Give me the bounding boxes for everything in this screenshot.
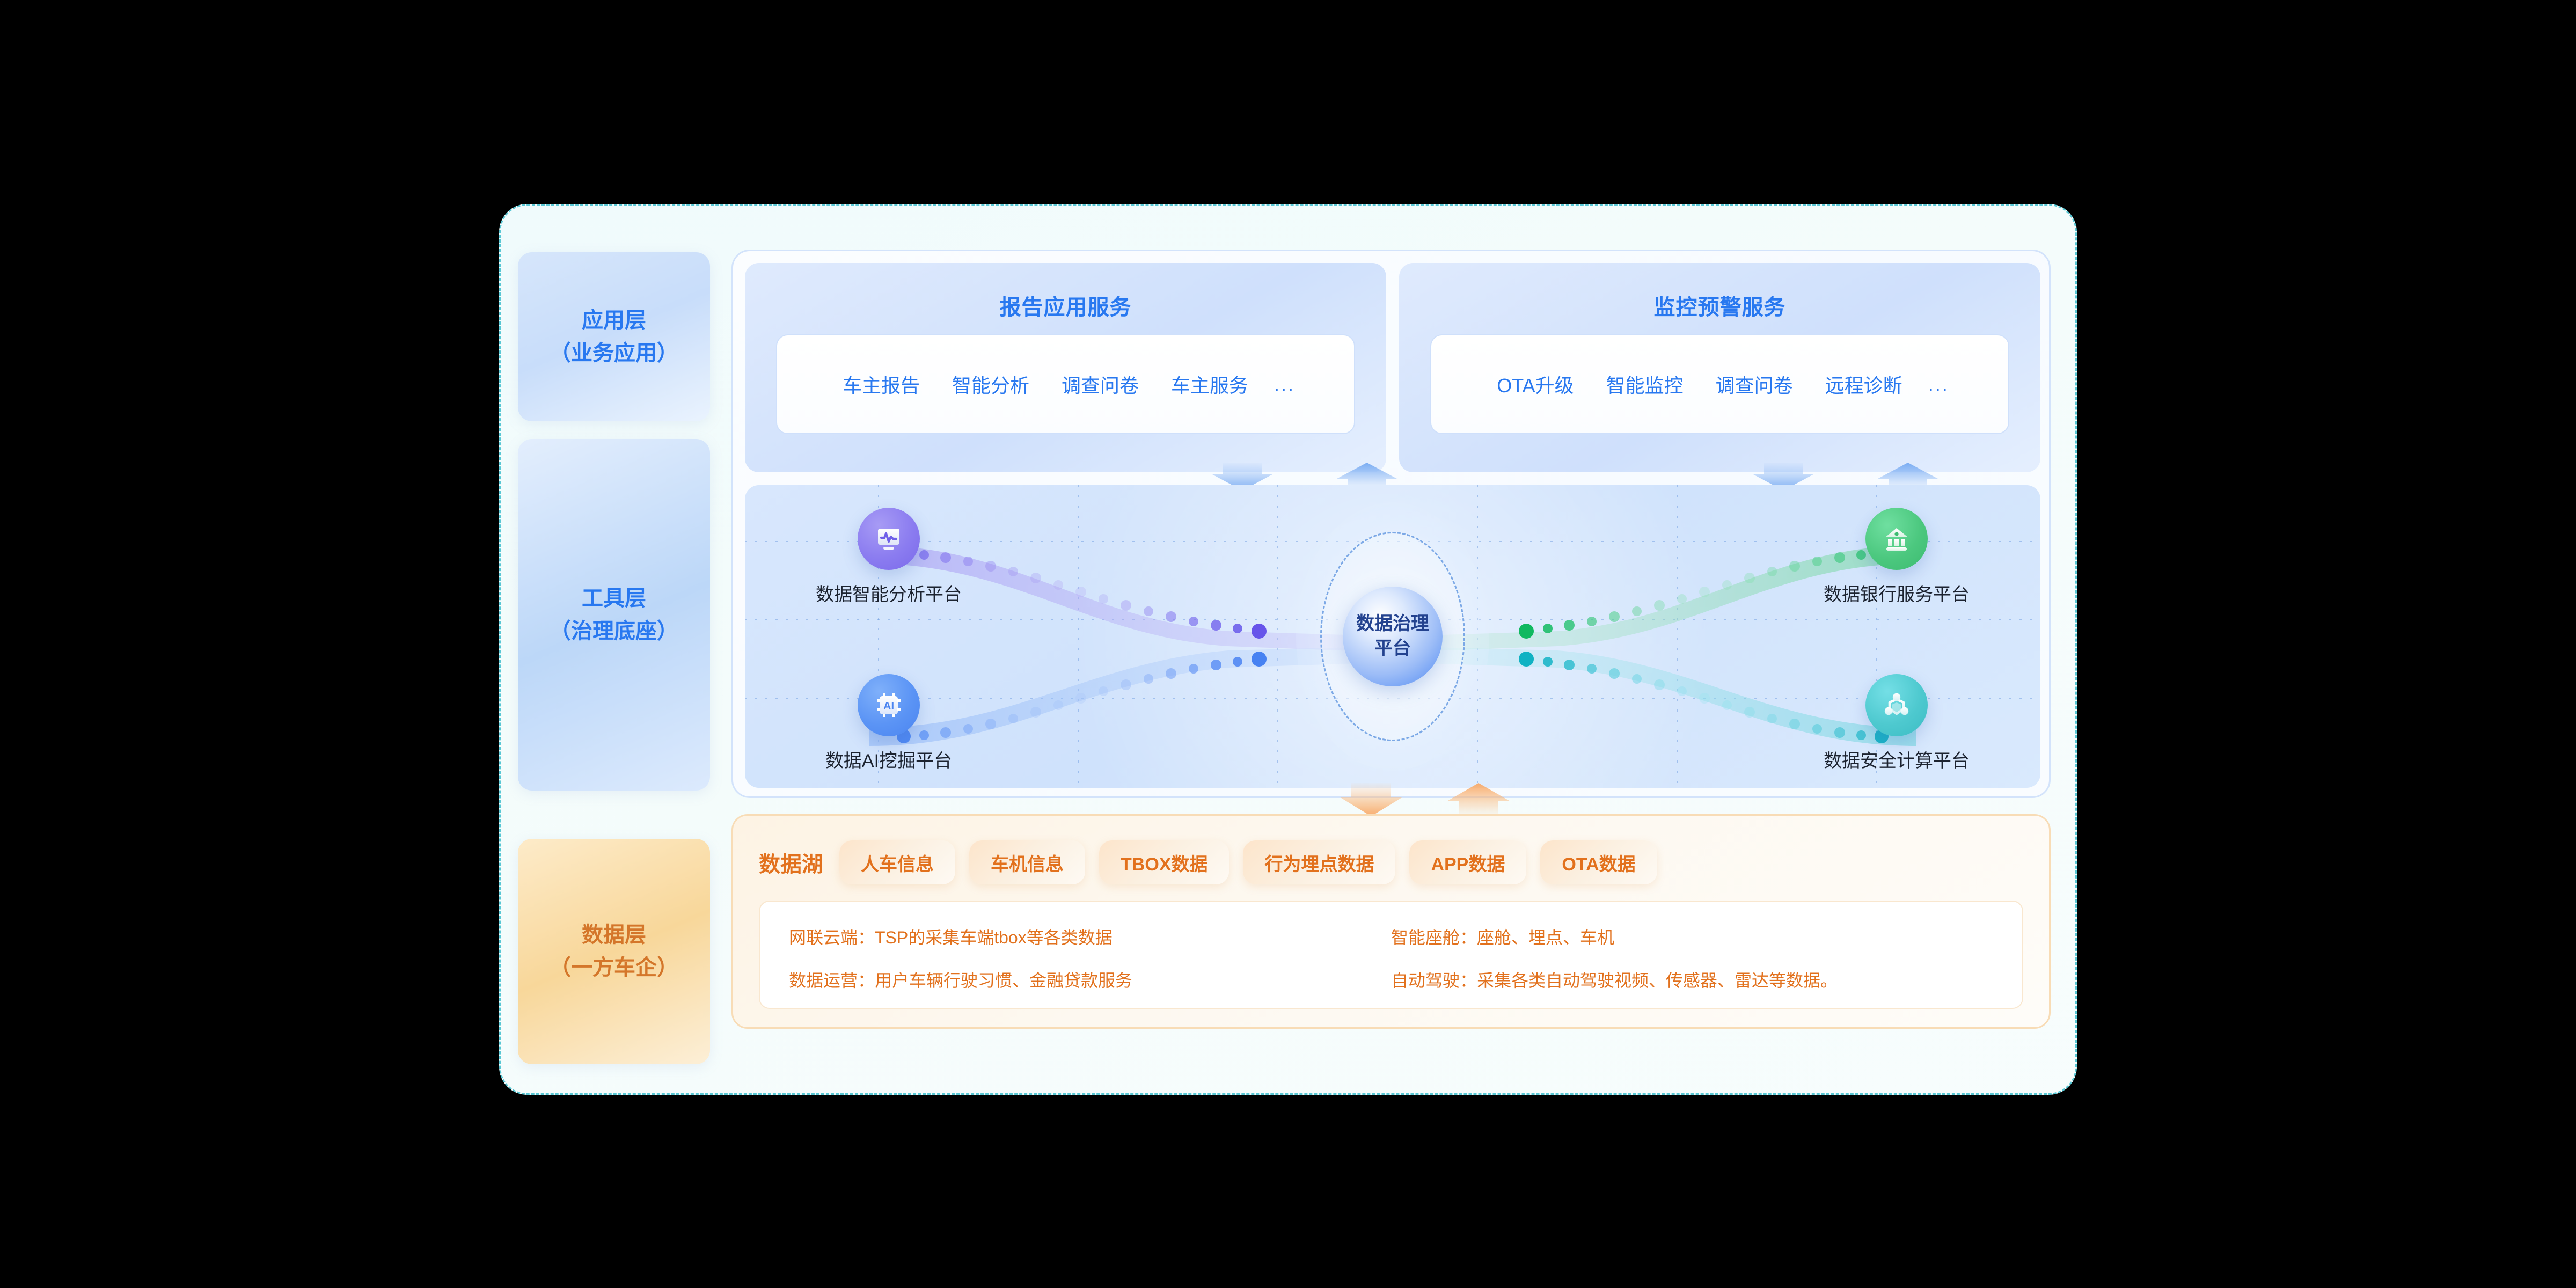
data-lake-title: 数据湖 [759,847,823,878]
tool-data-connector-arrows [731,783,2051,816]
description-column-left: 网联云端：TSP的采集车端tbox等各类数据 数据运营：用户车辆行驶习惯、金融贷… [789,924,1391,985]
data-lake-tag-app[interactable]: APP数据 [1409,840,1526,884]
service-item-owner-service[interactable]: 车主服务 [1155,370,1264,398]
description-smart-cockpit: 智能座舱：座舱、埋点、车机 [1391,924,1993,949]
layer-sub-data: （一方车企） [550,952,678,984]
layer-chip-application[interactable]: 应用层 （业务应用） [518,252,710,421]
application-layer-row: 报告应用服务 车主报告 智能分析 调查问卷 车主服务 ... 监控预警服务 OT… [745,263,2040,472]
description-connected-cloud: 网联云端：TSP的采集车端tbox等各类数据 [789,924,1391,949]
service-card-monitor-title: 监控预警服务 [1399,290,2040,321]
tool-layer-canvas: 数据治理 平台 数据智能分析平台 [745,485,2040,788]
service-item-questionnaire-2[interactable]: 调查问卷 [1700,370,1809,398]
layer-chip-tool[interactable]: 工具层 （治理底座） [518,439,710,791]
service-item-smart-analysis[interactable]: 智能分析 [936,370,1045,398]
bank-icon [1865,508,1928,570]
service-card-monitor-items: OTA升级 智能监控 调查问卷 远程诊断 ... [1430,334,2009,434]
platform-label-security: 数据安全计算平台 [1816,746,1977,772]
service-item-remote-diagnosis[interactable]: 远程诊断 [1809,370,1919,398]
hub-label: 数据治理 平台 [1356,612,1429,661]
service-item-questionnaire[interactable]: 调查问卷 [1045,370,1155,398]
architecture-diagram: 应用层 （业务应用） 工具层 （治理底座） 数据层 （一方车企） 报告应用服务 … [499,204,2077,1095]
service-card-monitor[interactable]: 监控预警服务 OTA升级 智能监控 调查问卷 远程诊断 ... [1399,263,2040,472]
data-lake-description-box: 网联云端：TSP的采集车端tbox等各类数据 数据运营：用户车辆行驶习惯、金融贷… [759,901,2023,1009]
layer-sub-tool: （治理底座） [550,615,678,648]
platform-node-analysis[interactable]: 数据智能分析平台 [808,508,969,606]
description-autonomous-driving: 自动驾驶：采集各类自动驾驶视频、传感器、雷达等数据。 [1391,967,1993,992]
platform-node-security[interactable]: 数据安全计算平台 [1816,674,1977,772]
layer-name-application: 应用层 [582,304,646,337]
layer-chip-data[interactable]: 数据层 （一方车企） [518,839,710,1064]
ai-chip-icon: AI [858,674,920,736]
hub-core-sphere[interactable]: 数据治理 平台 [1343,587,1443,686]
platform-label-ai: 数据AI挖掘平台 [808,746,969,772]
service-item-owner-report[interactable]: 车主报告 [826,370,936,398]
central-hub[interactable]: 数据治理 平台 [1269,502,1516,771]
monitor-pulse-icon [858,508,920,570]
data-lake-tag-tbox[interactable]: TBOX数据 [1099,840,1229,884]
svg-text:AI: AI [883,700,894,712]
service-card-report[interactable]: 报告应用服务 车主报告 智能分析 调查问卷 车主服务 ... [745,263,1386,472]
service-item-smart-monitor[interactable]: 智能监控 [1590,370,1700,398]
hub-label-line2: 平台 [1356,636,1429,661]
service-item-ota-upgrade[interactable]: OTA升级 [1481,370,1590,398]
platform-label-analysis: 数据智能分析平台 [808,580,969,606]
layer-sub-application: （业务应用） [550,337,678,370]
description-column-right: 智能座舱：座舱、埋点、车机 自动驾驶：采集各类自动驾驶视频、传感器、雷达等数据。 [1391,924,1993,985]
data-lake-tag-ota[interactable]: OTA数据 [1540,840,1657,884]
data-lake-tag-row: 数据湖 人车信息 车机信息 TBOX数据 行为埋点数据 APP数据 OTA数据 [759,839,2023,885]
hub-label-line1: 数据治理 [1356,612,1429,636]
service-item-more-monitor[interactable]: ... [1919,373,1959,396]
layer-name-tool: 工具层 [582,582,646,615]
platform-node-bank[interactable]: 数据银行服务平台 [1816,508,1977,606]
data-lake-tag-person-vehicle[interactable]: 人车信息 [839,840,955,884]
description-data-operations: 数据运营：用户车辆行驶习惯、金融贷款服务 [789,967,1391,992]
service-card-report-items: 车主报告 智能分析 调查问卷 车主服务 ... [776,334,1355,434]
data-lake-tag-behavior-tracking[interactable]: 行为埋点数据 [1243,840,1395,884]
shield-network-icon [1865,674,1928,736]
layer-name-data: 数据层 [582,919,646,952]
service-card-report-title: 报告应用服务 [745,290,1386,321]
arrow-up-datalake [1447,783,1510,816]
platform-label-bank: 数据银行服务平台 [1816,580,1977,606]
service-item-more-report[interactable]: ... [1264,373,1305,396]
data-lake-card: 数据湖 人车信息 车机信息 TBOX数据 行为埋点数据 APP数据 OTA数据 … [731,814,2051,1029]
platform-node-ai[interactable]: AI 数据AI挖掘平台 [808,674,969,772]
arrow-down-datalake [1340,783,1403,816]
data-lake-tag-vehicle-machine[interactable]: 车机信息 [969,840,1085,884]
upper-layers-container: 报告应用服务 车主报告 智能分析 调查问卷 车主服务 ... 监控预警服务 OT… [731,250,2051,798]
